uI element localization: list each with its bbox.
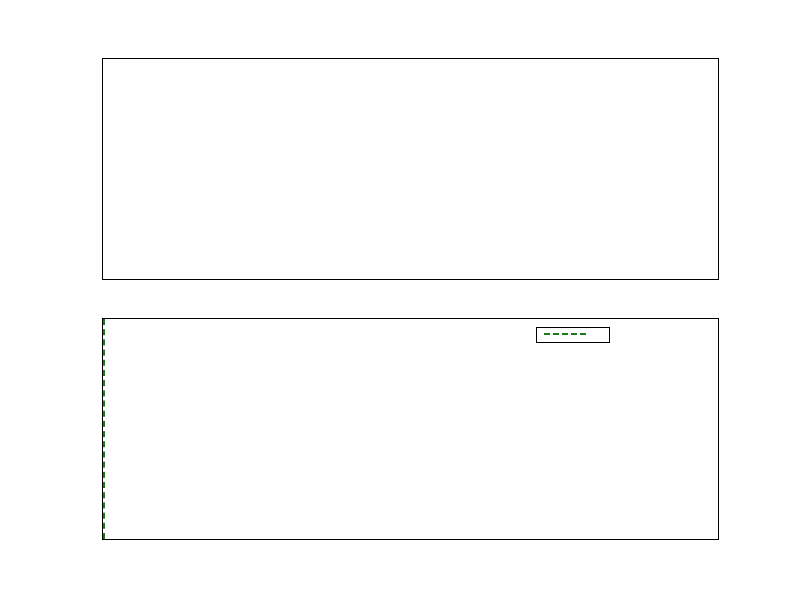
- histogram-plot-area: [103, 59, 718, 279]
- histogram-panel: [102, 58, 719, 280]
- cumulative-curve: [103, 319, 718, 539]
- cumulative-plot-area: [103, 319, 718, 539]
- matplotlib-figure: [0, 0, 800, 600]
- mag-limit-vline: [103, 319, 105, 539]
- cumulative-panel: [102, 318, 719, 540]
- mag-limit-line-swatch-icon: [544, 333, 586, 337]
- legend: [536, 327, 610, 343]
